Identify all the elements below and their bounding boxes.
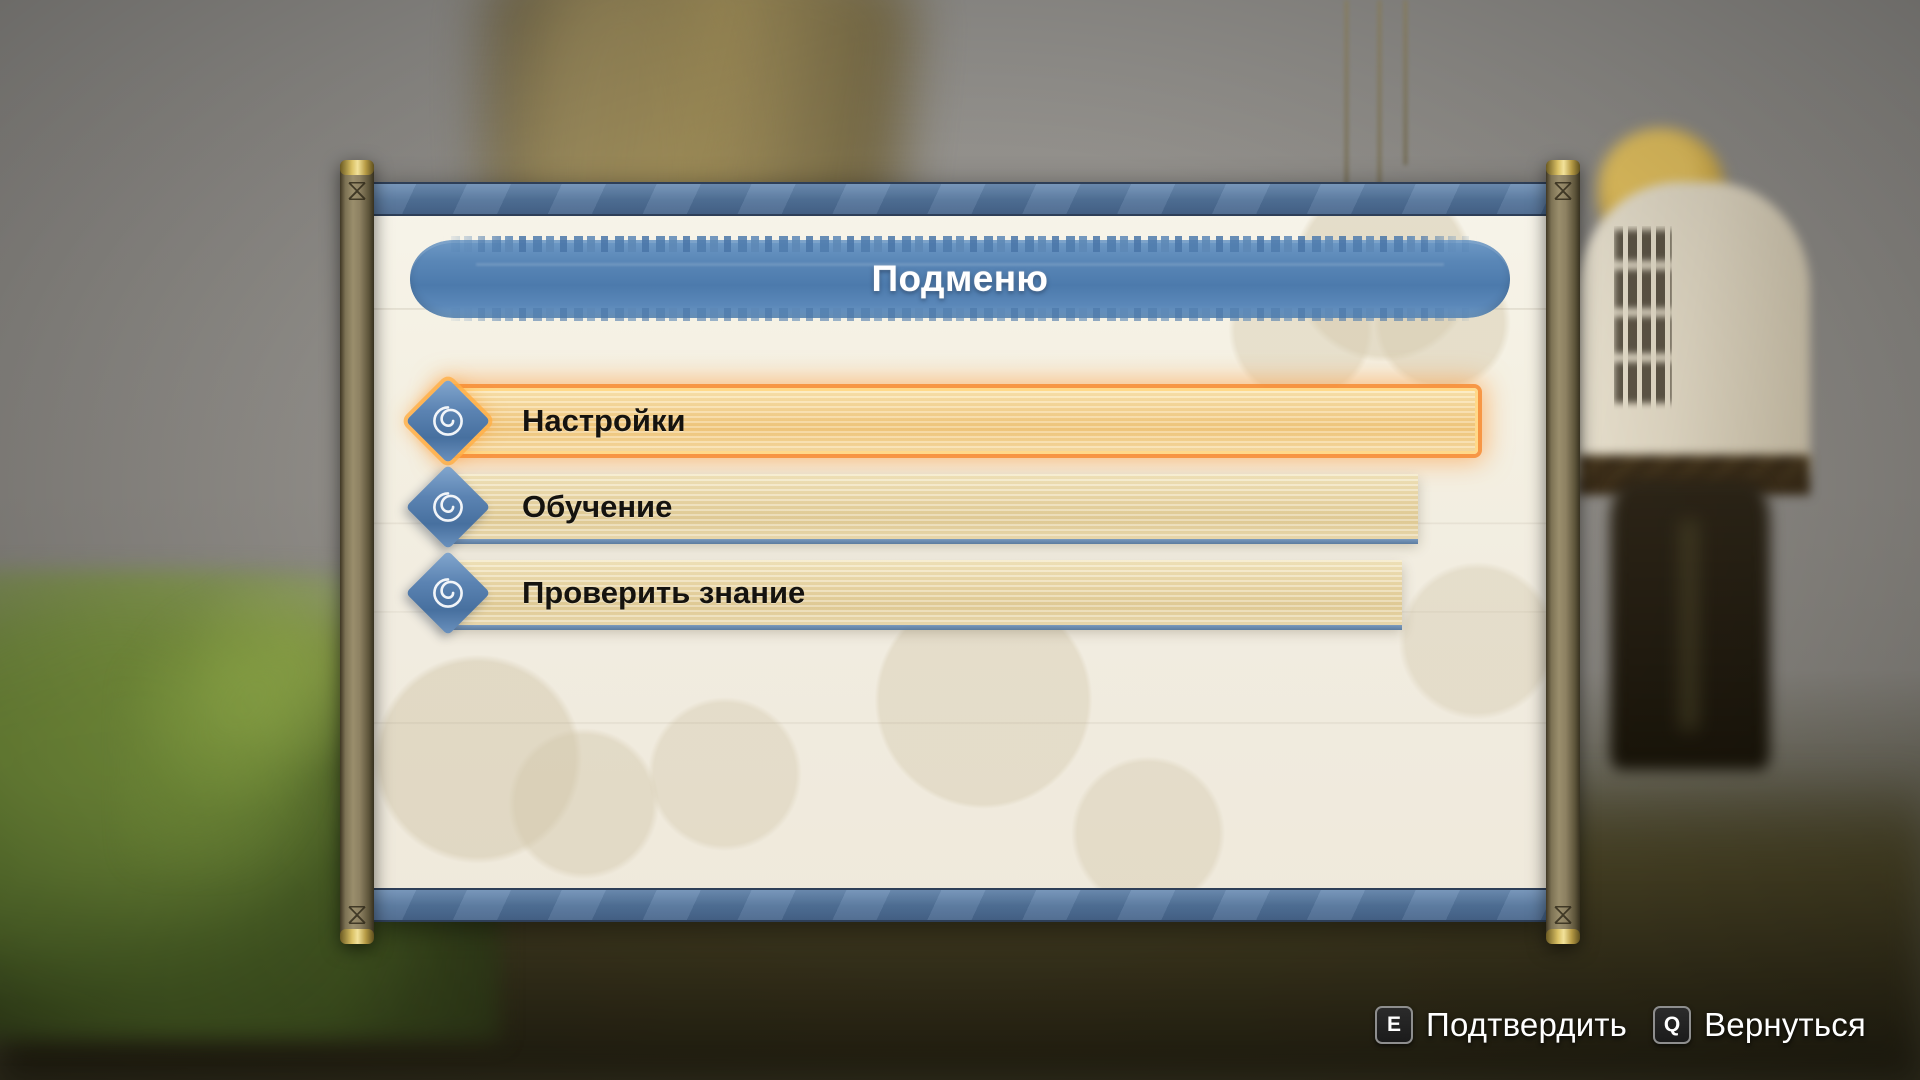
page-title: Подменю	[410, 240, 1510, 318]
spiral-glyph	[418, 563, 478, 623]
scroll-cap-bottom	[340, 929, 374, 944]
key-badge-e[interactable]: E	[1375, 1006, 1413, 1044]
swirl-ornament-icon: ⧖	[346, 900, 367, 930]
konoha-spiral-icon	[406, 379, 491, 464]
swirl-ornament-icon: ⧖	[346, 176, 367, 206]
prompt-confirm-label: Подтвердить	[1426, 1006, 1627, 1044]
submenu-list: Настройки Обучение	[372, 378, 1548, 636]
rope-line	[1345, 0, 1348, 190]
character-leg-gap	[1680, 520, 1698, 730]
prompt-confirm[interactable]: E Подтвердить	[1375, 1006, 1627, 1044]
konoha-spiral-icon	[406, 551, 491, 636]
spiral-svg	[431, 404, 465, 438]
swirl-ornament-icon: ⧖	[1552, 900, 1573, 930]
rope-line	[1404, 0, 1407, 165]
menu-item-inner: Обучение	[418, 474, 1418, 540]
spiral-glyph	[418, 391, 478, 451]
prompt-back-label: Вернуться	[1704, 1006, 1866, 1044]
spiral-glyph	[418, 477, 478, 537]
menu-item-training[interactable]: Обучение	[372, 464, 1548, 550]
key-badge-q[interactable]: Q	[1653, 1006, 1691, 1044]
character-cloak-kanji	[1614, 226, 1672, 432]
konoha-spiral-icon	[406, 465, 491, 550]
spiral-svg	[431, 490, 465, 524]
menu-item-label: Настройки	[522, 403, 686, 439]
menu-item-label: Проверить знание	[522, 575, 805, 611]
panel-bottom-bar	[372, 888, 1548, 922]
menu-item-label: Обучение	[522, 489, 672, 525]
swirl-ornament-icon: ⧖	[1552, 176, 1573, 206]
character-cloak	[1578, 182, 1810, 482]
panel-title-banner: Подменю	[410, 240, 1510, 318]
scroll-post-left: ⧖ ⧖	[340, 160, 374, 944]
button-prompt-bar: E Подтвердить Q Вернуться	[1375, 1006, 1866, 1044]
scroll-post-right: ⧖ ⧖	[1546, 160, 1580, 944]
menu-item-inner: Проверить знание	[418, 560, 1402, 626]
panel-parchment: Подменю Настройки	[372, 182, 1548, 922]
prompt-back[interactable]: Q Вернуться	[1653, 1006, 1866, 1044]
scroll-cap-bottom	[1546, 929, 1580, 944]
menu-item-test-knowledge[interactable]: Проверить знание	[372, 550, 1548, 636]
panel-top-bar	[372, 182, 1548, 216]
menu-item-settings[interactable]: Настройки	[372, 378, 1548, 464]
spiral-svg	[431, 576, 465, 610]
submenu-panel: Подменю Настройки	[340, 182, 1580, 922]
menu-item-inner: Настройки	[418, 388, 1478, 454]
